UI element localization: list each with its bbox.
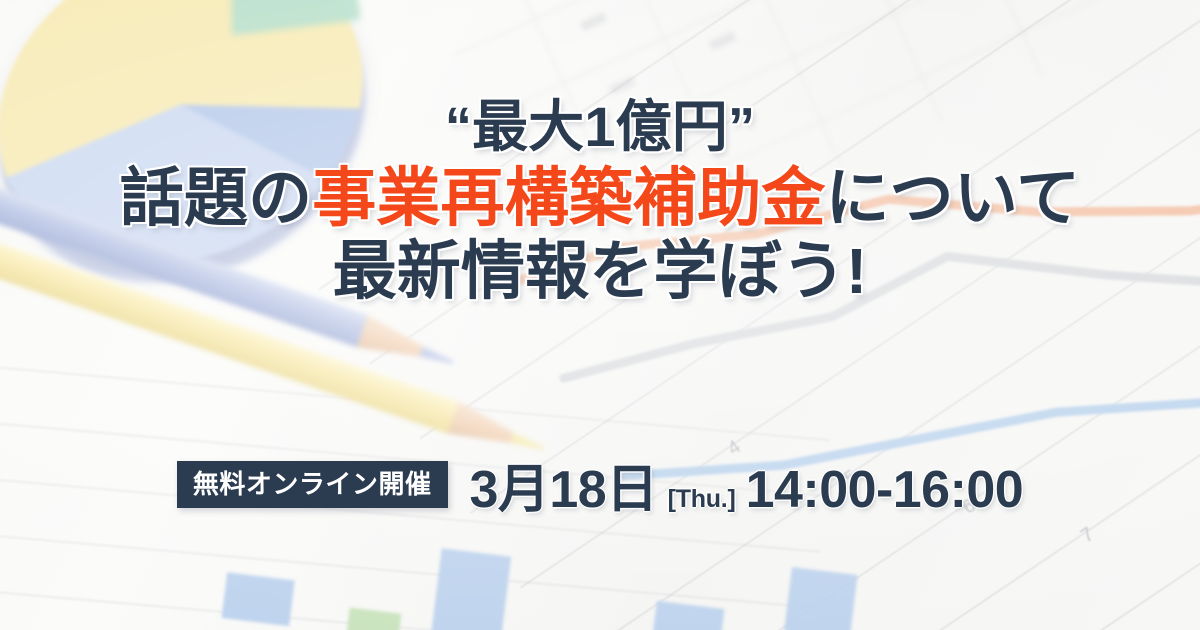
event-datetime: 3月18日 [Thu.] 14:00-16:00: [470, 447, 1024, 522]
headline: “最大1億円” 話題の事業再構築補助金について 最新情報を学ぼう!: [0, 96, 1200, 308]
headline-line-3: 最新情報を学ぼう!: [0, 236, 1200, 308]
event-time: 14:00-16:00: [746, 460, 1024, 520]
close-quote: ”: [728, 97, 755, 157]
free-online-badge: 無料オンライン開催: [177, 461, 448, 508]
banner-content: “最大1億円” 話題の事業再構築補助金について 最新情報を学ぼう! 無料オンライ…: [0, 0, 1200, 630]
headline-line-1-text: 最大1億円: [472, 95, 728, 158]
open-quote: “: [445, 97, 472, 157]
headline-line-2-prefix: 話題の: [120, 162, 312, 234]
event-info-bar: 無料オンライン開催 3月18日 [Thu.] 14:00-16:00: [0, 447, 1200, 522]
headline-highlight-subsidy: 事業再構築補助金: [312, 162, 825, 234]
headline-line-1: “最大1億円”: [0, 96, 1200, 159]
headline-line-2: 話題の事業再構築補助金について: [0, 163, 1200, 235]
event-date: 3月18日: [470, 447, 658, 522]
headline-line-2-suffix: について: [826, 162, 1081, 234]
webinar-banner: 4 5 6 7: [0, 0, 1200, 630]
event-weekday: [Thu.]: [668, 485, 736, 514]
